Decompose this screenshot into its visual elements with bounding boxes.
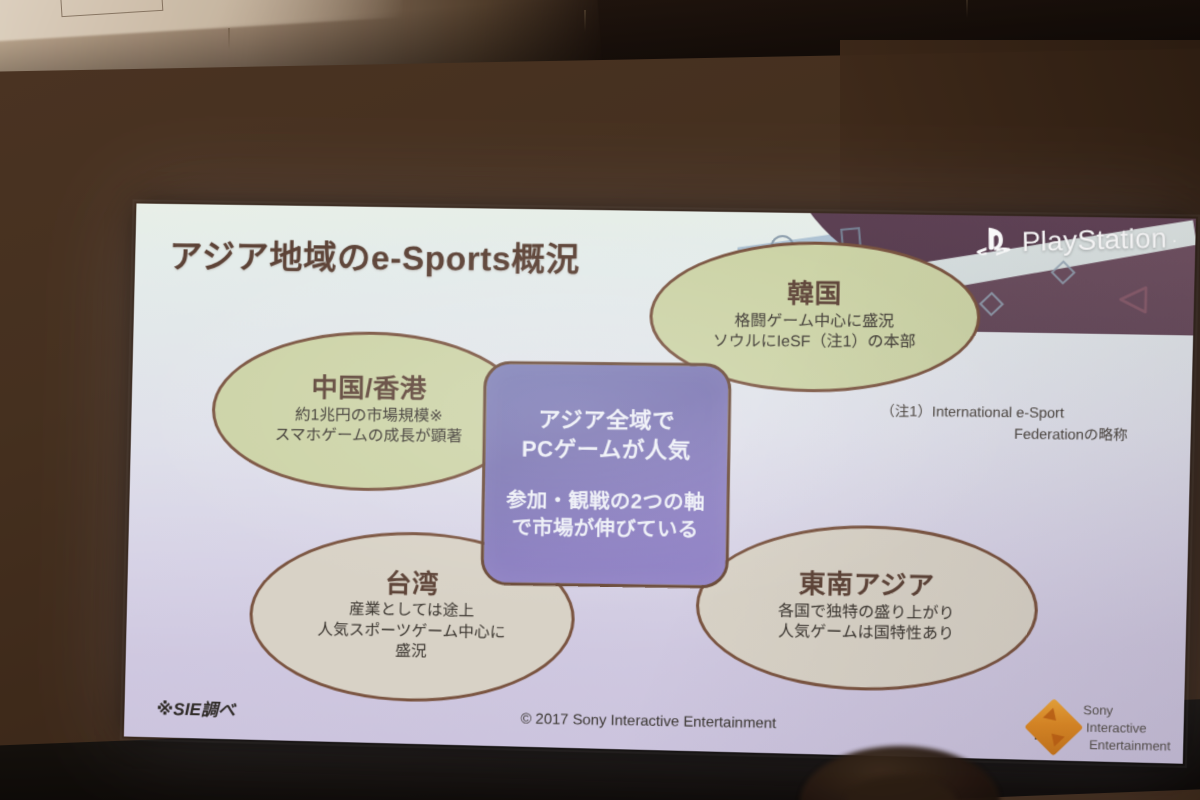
screenshot-stage: PlayStation . アジア地域のe-Sports概況 中国/香港 約1兆… [0, 0, 1200, 800]
copyright-text: © 2017 Sony Interactive Entertainment [124, 704, 1183, 740]
sie-logo-line-2: Interactive [1083, 719, 1171, 737]
center-box-lead-line1: アジア全域で [538, 405, 675, 436]
bubble-line: 盛況 [395, 642, 427, 663]
sie-logo-text: Sony Interactive Entertainment [1083, 702, 1171, 755]
footnote-line-1: （注1）International e-Sport [880, 403, 1064, 421]
bubble-line: 人気スポーツゲーム中心に [317, 620, 506, 644]
playstation-trademark: . [1172, 229, 1177, 248]
presentation-slide: PlayStation . アジア地域のe-Sports概況 中国/香港 約1兆… [124, 203, 1196, 763]
bubble-title: 中国/香港 [311, 375, 427, 403]
bubble-china: 中国/香港 約1兆円の市場規模※ スマホゲームの成長が顕著 [211, 331, 527, 493]
playstation-wordmark: PlayStation . [974, 220, 1177, 260]
bubble-line: 約1兆円の市場規模※ [295, 405, 443, 427]
bubble-title: 韓国 [787, 281, 842, 309]
bubble-title: 東南アジア [798, 571, 935, 601]
bubble-line: 人気ゲームは国特性あり [778, 622, 954, 645]
bubble-title: 台湾 [385, 570, 439, 598]
footnote-line-2: Federationの略称 [880, 422, 1141, 446]
sie-logo-line-3: Entertainment [1083, 736, 1171, 754]
center-box-lead-line2: PCゲームが人気 [521, 434, 691, 465]
projection-screen: PlayStation . アジア地域のe-Sports概況 中国/香港 約1兆… [23, 190, 1200, 780]
footnote: （注1）International e-Sport Federationの略称 [880, 401, 1141, 447]
bubble-line: 各国で独特の盛り上がり [778, 601, 955, 624]
playstation-brand-text: PlayStation [1021, 222, 1167, 257]
sie-diamond-icon [1024, 698, 1083, 756]
center-summary-box: アジア全域で PCゲームが人気 参加・観戦の2つの軸 で市場が伸びている [480, 361, 731, 589]
bubble-southeast-asia: 東南アジア 各国で独特の盛り上がり 人気ゲームは国特性あり [695, 523, 1039, 693]
sie-logo-line-1: Sony [1083, 702, 1171, 720]
bubble-line: スマホゲームの成長が顕著 [275, 426, 463, 448]
sie-logo: Sony Interactive Entertainment [1033, 701, 1172, 754]
bubble-line: 格闘ゲーム中心に盛況 [734, 311, 894, 332]
playstation-ps-logo-icon [974, 225, 1012, 261]
page-title: アジア地域のe-Sports概況 [169, 230, 580, 281]
ps-triangle-icon [1116, 285, 1148, 319]
center-box-sub-line1: 参加・観戦の2つの軸 [506, 487, 705, 517]
bubble-line: 産業としては途上 [349, 600, 475, 623]
center-box-sub-line2: で市場が伸びている [511, 515, 699, 545]
bubble-line: ソウルにIeSF（注1）の本部 [713, 332, 916, 353]
